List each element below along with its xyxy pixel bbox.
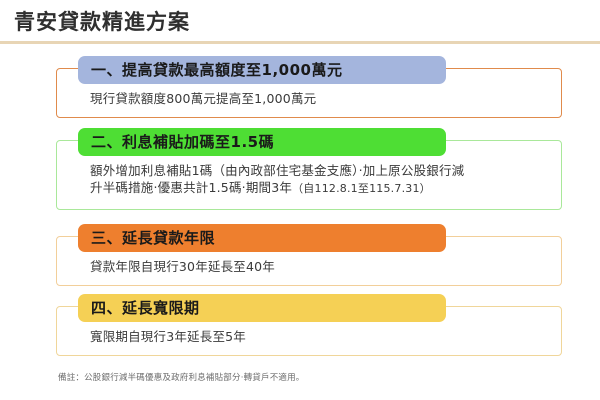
section-body-line: 額外增加利息補貼1碼（由內政部住宅基金支應）‧加上原公股銀行減 <box>90 162 542 179</box>
section-body-line: 現行貸款額度800萬元提高至1,000萬元 <box>90 90 542 107</box>
section-item: 一、提高貸款最高額度至1,000萬元 現行貸款額度800萬元提高至1,000萬元 <box>56 56 562 118</box>
section-item: 四、延長寬限期 寬限期自現行3年延長至5年 <box>56 294 562 356</box>
section-body: 貸款年限自現行30年延長至40年 <box>90 258 542 275</box>
infographic-page: 青安貸款精進方案 一、提高貸款最高額度至1,000萬元 現行貸款額度800萬元提… <box>0 0 600 400</box>
footnote: 備註：公股銀行減半碼優惠及政府利息補貼部分‧轉貸戶不適用。 <box>58 371 305 383</box>
section-body-line: 升半碼措施‧優惠共計1.5碼‧期間3年（自112.8.1至115.7.31） <box>90 179 542 197</box>
section-body: 現行貸款額度800萬元提高至1,000萬元 <box>90 90 542 107</box>
section-header-label: 三、延長貸款年限 <box>78 231 215 246</box>
section-header-label: 四、延長寬限期 <box>78 301 200 316</box>
section-body-line: 寬限期自現行3年延長至5年 <box>90 328 542 345</box>
section-header-bar: 二、利息補貼加碼至1.5碼 <box>78 128 446 156</box>
section-header-bar: 一、提高貸款最高額度至1,000萬元 <box>78 56 446 84</box>
section-item: 二、利息補貼加碼至1.5碼 額外增加利息補貼1碼（由內政部住宅基金支應）‧加上原… <box>56 128 562 210</box>
section-header-bar: 三、延長貸款年限 <box>78 224 446 252</box>
section-header-label: 二、利息補貼加碼至1.5碼 <box>78 135 274 150</box>
section-body-line: 貸款年限自現行30年延長至40年 <box>90 258 542 275</box>
section-header-label: 一、提高貸款最高額度至1,000萬元 <box>78 63 342 78</box>
section-item: 三、延長貸款年限 貸款年限自現行30年延長至40年 <box>56 224 562 286</box>
title-divider <box>0 41 600 44</box>
section-body-date-range: （自112.8.1至115.7.31） <box>292 182 431 195</box>
section-body-line-text: 升半碼措施‧優惠共計1.5碼‧期間3年 <box>90 180 292 195</box>
section-body: 寬限期自現行3年延長至5年 <box>90 328 542 345</box>
title-area: 青安貸款精進方案 <box>0 0 600 44</box>
page-title: 青安貸款精進方案 <box>14 6 190 36</box>
section-body: 額外增加利息補貼1碼（由內政部住宅基金支應）‧加上原公股銀行減 升半碼措施‧優惠… <box>90 162 542 197</box>
section-header-bar: 四、延長寬限期 <box>78 294 446 322</box>
